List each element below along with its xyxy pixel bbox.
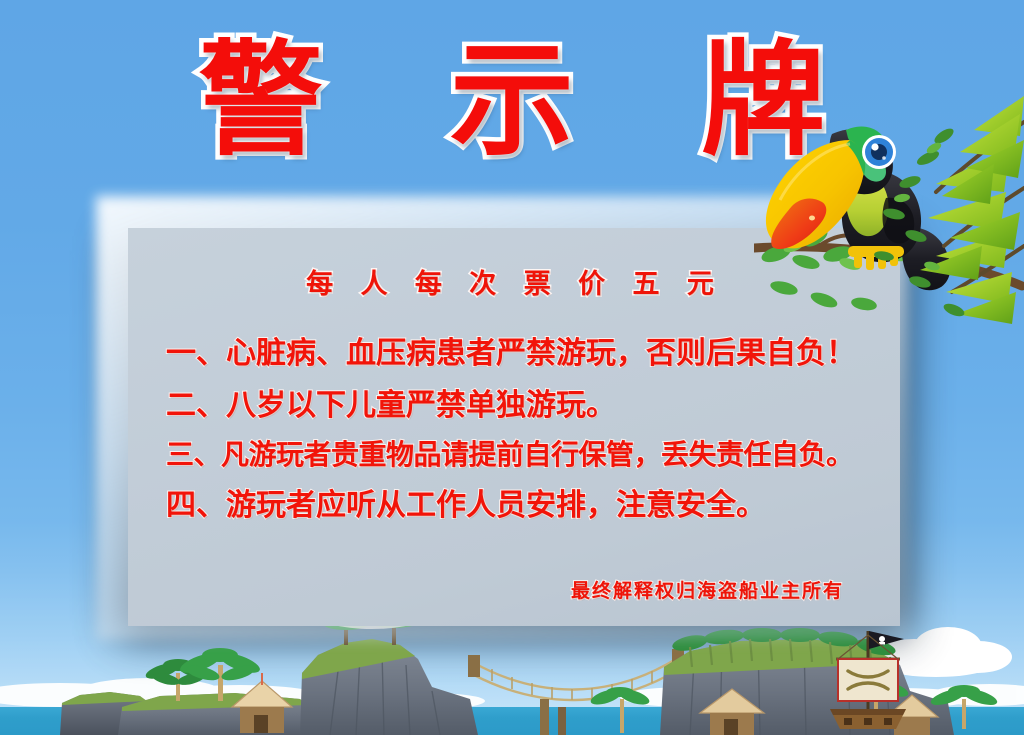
warning-sign-poster: 每 人 每 次 票 价 五 元 一、心脏病、血压病患者严禁游玩，否则后果自负！ … xyxy=(0,0,1024,735)
rule-item-4: 四、游玩者应听从工作人员安排，注意安全。 xyxy=(150,483,870,529)
rule-item-2: 二、八岁以下儿童严禁单独游玩。 xyxy=(150,383,870,429)
rules-list: 一、心脏病、血压病患者严禁游玩，否则后果自负！ 二、八岁以下儿童严禁单独游玩。 … xyxy=(150,331,870,528)
pirate-ship-icon xyxy=(808,625,928,735)
rule-item-3: 三、凡游玩者贵重物品请提前自行保管，丢失责任自负。 xyxy=(150,434,870,477)
disclaimer-footnote: 最终解释权归海盗船业主所有 xyxy=(150,576,870,603)
bamboo-leaves-icon xyxy=(824,96,1024,346)
